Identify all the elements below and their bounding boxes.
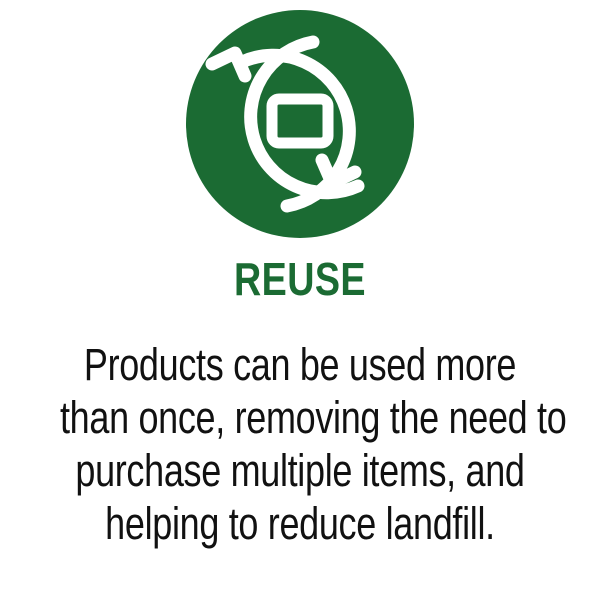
page-title: REUSE bbox=[54, 255, 546, 303]
body-line: Products can be used more bbox=[60, 338, 540, 391]
body-line: than once, removing the need to bbox=[60, 391, 540, 444]
body-copy: Products can be used more than once, rem… bbox=[0, 338, 600, 550]
reuse-loop-icon bbox=[186, 10, 414, 238]
body-line: purchase multiple items, and bbox=[60, 444, 540, 497]
body-line: helping to reduce landfill. bbox=[60, 497, 540, 550]
reuse-infographic-card: REUSE Products can be used more than onc… bbox=[0, 0, 600, 600]
reuse-icon-badge bbox=[186, 10, 414, 238]
